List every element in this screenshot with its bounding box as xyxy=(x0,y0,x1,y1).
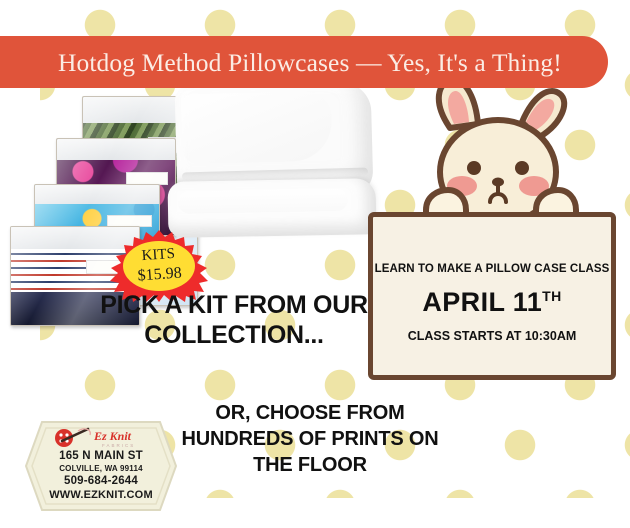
pillow-photo xyxy=(168,84,383,236)
sign-class-title: LEARN TO MAKE A PILLOW CASE CLASS xyxy=(373,263,611,275)
headline-primary: PICK A KIT FROM OUR COLLECTION... xyxy=(84,290,384,350)
pillow-lower xyxy=(168,178,377,238)
svg-text:Ez Knit: Ez Knit xyxy=(93,429,132,443)
store-info-badge: Ez Knit FABRICS 165 N MAIN ST COLVILLE, … xyxy=(22,418,180,514)
store-contact-block: 165 N MAIN ST COLVILLE, WA 99114 509-684… xyxy=(22,450,180,501)
headline-secondary: OR, CHOOSE FROM HUNDREDS OF PRINTS ON TH… xyxy=(160,400,460,478)
store-city-state-zip: COLVILLE, WA 99114 xyxy=(22,464,180,473)
ezknit-logo-mark: Ez Knit FABRICS xyxy=(50,427,152,449)
class-info-sign: LEARN TO MAKE A PILLOW CASE CLASS APRIL … xyxy=(368,212,616,380)
sign-date-suffix: TH xyxy=(542,288,561,304)
sign-class-date: APRIL 11TH xyxy=(373,287,611,318)
sign-date-text: APRIL 11 xyxy=(422,287,542,317)
banner-headline: Hotdog Method Pillowcases — Yes, It's a … xyxy=(58,44,618,84)
store-website[interactable]: WWW.EZKNIT.COM xyxy=(22,489,180,501)
svg-text:FABRICS: FABRICS xyxy=(102,443,135,448)
flyer-canvas: LEARN TO MAKE A PILLOW CASE CLASS APRIL … xyxy=(0,0,630,528)
badge-content: Ez Knit FABRICS 165 N MAIN ST COLVILLE, … xyxy=(22,418,180,514)
store-address: 165 N MAIN ST xyxy=(22,450,180,462)
price-badge-text: KITS $15.98 xyxy=(107,242,211,287)
store-phone[interactable]: 509-684-2644 xyxy=(22,475,180,487)
sign-class-time: CLASS STARTS AT 10:30AM xyxy=(373,329,611,343)
